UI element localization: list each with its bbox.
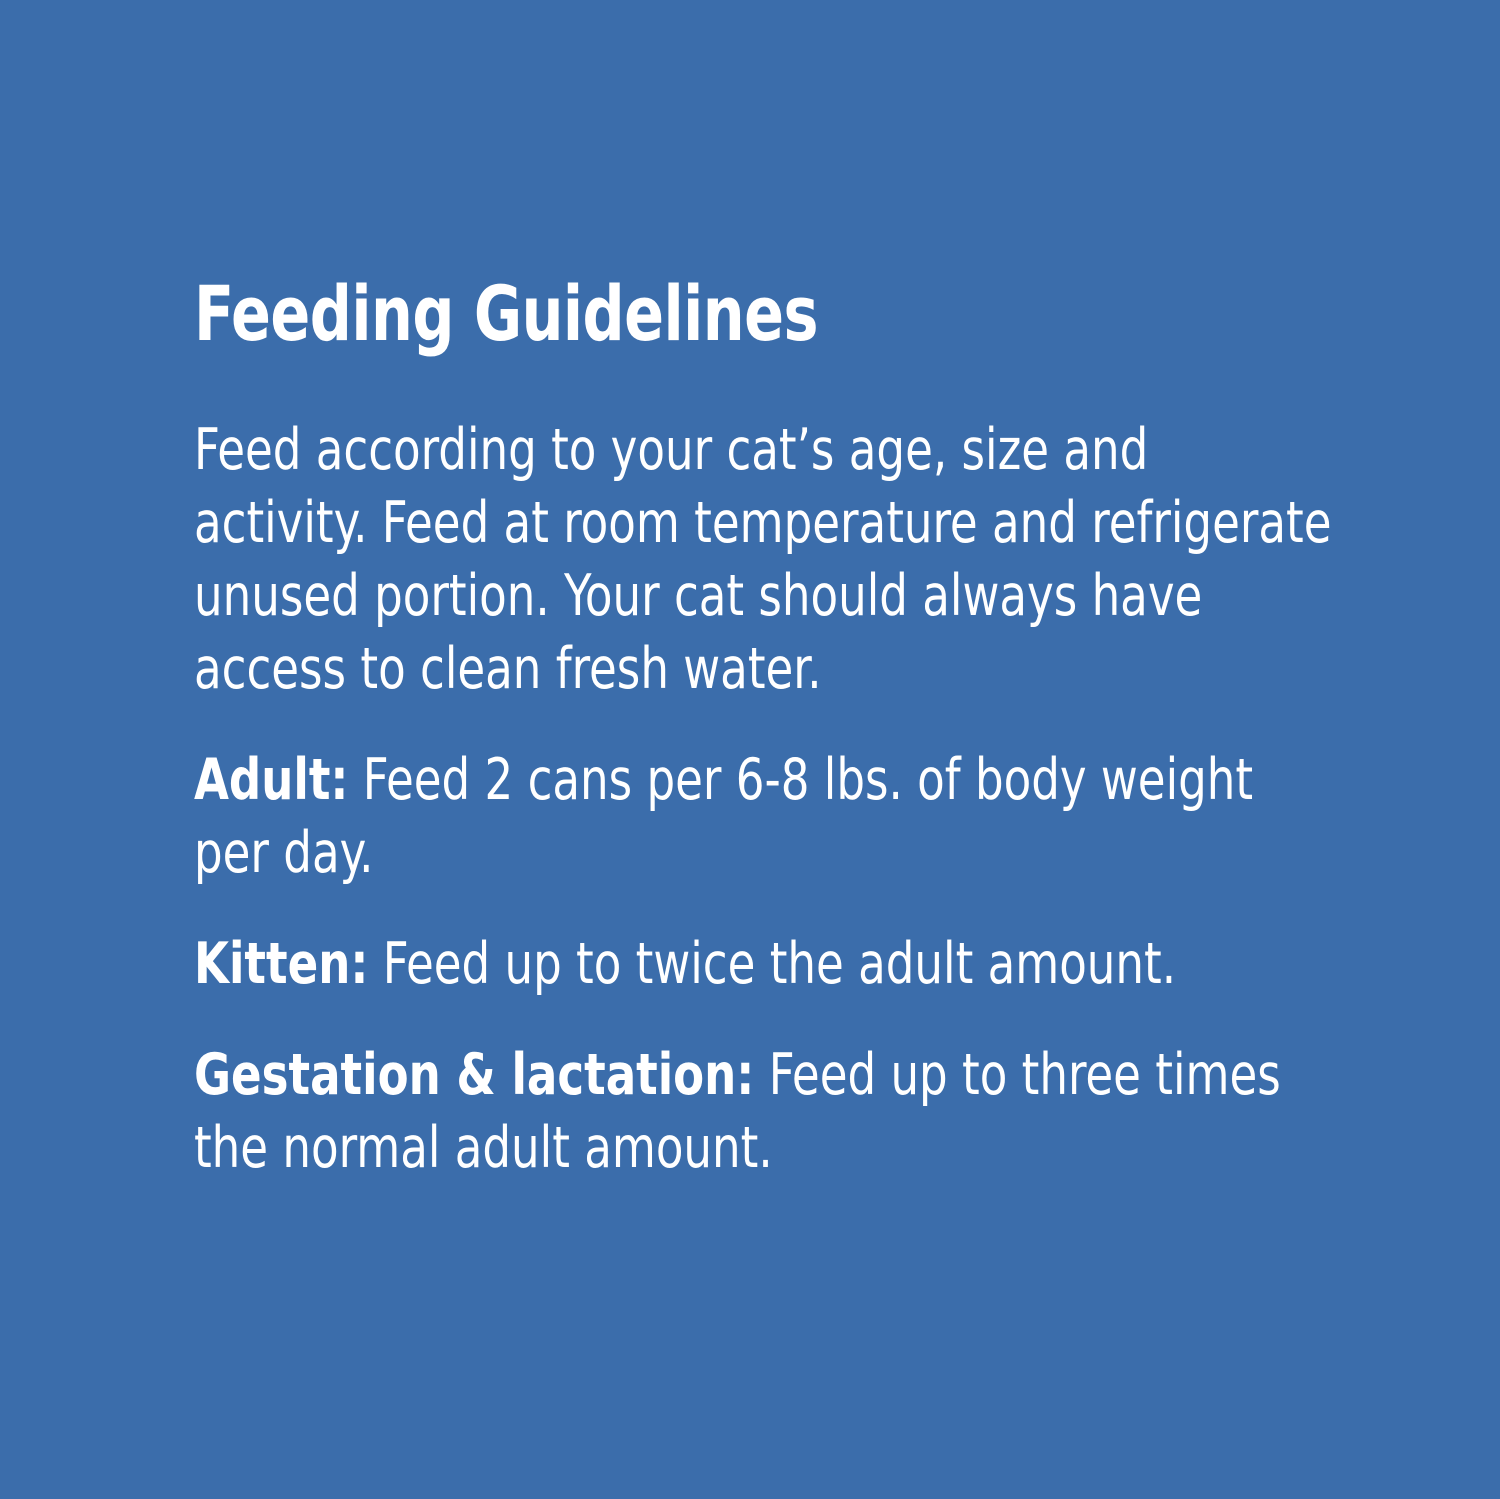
feeding-section-adult-text: Feed 2 cans per 6-8 lbs. of body weight … xyxy=(194,747,1253,886)
feeding-section-gestation-lactation-label: Gestation & lactation: xyxy=(194,1042,754,1108)
feeding-guidelines-panel: Feeding Guidelines Feed according to you… xyxy=(0,0,1500,1499)
feeding-section-adult: Adult: Feed 2 cans per 6-8 lbs. of body … xyxy=(194,744,1334,890)
feeding-section-kitten-label: Kitten: xyxy=(194,931,368,997)
feeding-section-gestation-lactation: Gestation & lactation: Feed up to three … xyxy=(194,1039,1334,1185)
feeding-section-adult-label: Adult: xyxy=(194,747,348,813)
page-title: Feeding Guidelines xyxy=(194,272,1174,356)
content-block: Feeding Guidelines Feed according to you… xyxy=(194,272,1334,1185)
intro-paragraph: Feed according to your cat’s age, size a… xyxy=(194,414,1334,706)
feeding-section-kitten-text: Feed up to twice the adult amount. xyxy=(368,931,1176,997)
feeding-section-kitten: Kitten: Feed up to twice the adult amoun… xyxy=(194,928,1334,1001)
